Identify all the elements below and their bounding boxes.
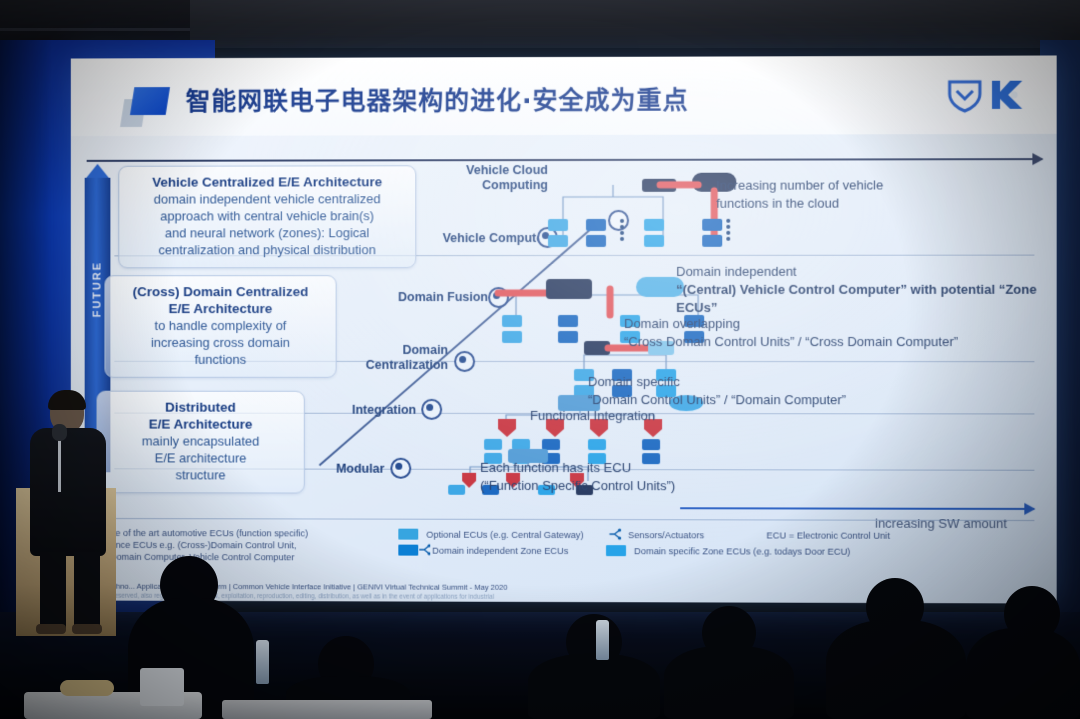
legend-note-1: state of the art automotive ECUs (functi… [100,528,308,538]
future-arrow-label: FUTURE [92,256,104,322]
sw-axis-label: increasing SW amount [875,516,1007,531]
slide-body: increasing SW amount FUTURE Vehicle Cent… [71,134,1057,604]
water-bottle [596,620,609,660]
slide-header: 智能网联电子电器架构的进化·安全成为重点 [71,55,1057,136]
card-vehicle-centralized: Vehicle Centralized E/E Architecture dom… [118,165,416,268]
legend-swatch-domain-specific-zone [606,545,626,556]
annotation-modular: Each function has its ECU (“Function Spe… [480,459,675,495]
card-title-2: E/E Architecture [111,300,329,317]
room-upper-band [190,0,1080,48]
slide-accent-mark [132,87,172,117]
card-title-2: E/E Architecture [103,416,297,433]
presenter-shoe [72,624,102,634]
annotation-integration: Functional Integration [530,407,655,425]
presenter-hair [48,390,86,410]
presenter-shoe [36,624,66,634]
legend-label-domain-independent-zone: Domain independent Zone ECUs [432,546,568,556]
time-axis [87,158,1043,162]
legend-note-2: ormance ECUs e.g. (Cross-)Domain Control… [95,540,297,550]
audience-silhouette [528,654,660,719]
card-line: domain independent vehicle centralized [125,190,409,207]
foreground-table [222,700,432,719]
slide-footer-line-2: All rights reserved, also regarding any … [87,593,494,601]
teacup [60,680,114,696]
audience-silhouette [966,628,1080,719]
shield-k-logo [944,76,1031,114]
card-title: (Cross) Domain Centralized [111,283,329,300]
legend-label-optional-ecus: Optional ECUs (e.g. Central Gateway) [426,530,583,540]
card-line: functions [111,351,329,368]
audience-silhouette [664,646,794,719]
stage-label-modular: Modular [249,462,384,477]
card-line: approach with central vehicle brain(s) [125,207,409,224]
card-line: increasing cross domain [111,334,329,351]
projected-slide: 智能网联电子电器架构的进化·安全成为重点 increasing SW amoun… [71,55,1057,603]
stage-label-integration: Integration [269,403,416,418]
legend-label-domain-specific-zone: Domain specific Zone ECUs (e.g. todays D… [634,546,850,557]
sensor-icon [418,544,430,557]
legend-swatch-domain-independent-zone [398,545,418,556]
card-title: Vehicle Centralized E/E Architecture [125,173,409,190]
microphone-stand [58,436,61,492]
slide-footer-line-1: otive Techno... Application Plugin Platf… [87,582,508,592]
presenter-torso [30,428,106,556]
legend-label-ecu-definition: ECU = Electronic Control Unit [766,530,889,540]
water-bottle [256,640,269,684]
screenshot-root: 智能网联电子电器架构的进化·安全成为重点 increasing SW amoun… [0,0,1080,719]
presenter [22,392,118,640]
legend-label-sensors-actuators: Sensors/Actuators [628,530,704,540]
laptop [140,668,184,706]
audience-silhouette [826,620,966,719]
annotation-vehicle-computer: Domain independent “(Central) Vehicle Co… [676,263,1057,317]
card-line: mainly encapsulated [103,432,297,449]
annotation-domain-centralization: Domain specific “Domain Control Units” /… [588,373,846,409]
annotation-cloud: Increasing number of vehicle functions i… [716,176,883,212]
card-line: and neural network (zones): Logical [125,224,409,241]
card-line: centralization and physical distribution [125,241,409,258]
annotation-domain-fusion: Domain overlapping “Cross Domain Control… [624,315,958,351]
sensor-icon [608,528,621,541]
card-cross-domain-centralized: (Cross) Domain Centralized E/E Architect… [104,275,336,378]
card-line: to handle complexity of [111,317,329,334]
slide-title: 智能网联电子电器架构的进化·安全成为重点 [186,81,689,118]
microphone [52,424,67,441]
presenter-leg [40,552,66,628]
legend-swatch-optional-ecus [398,529,418,540]
presenter-leg [74,552,100,628]
